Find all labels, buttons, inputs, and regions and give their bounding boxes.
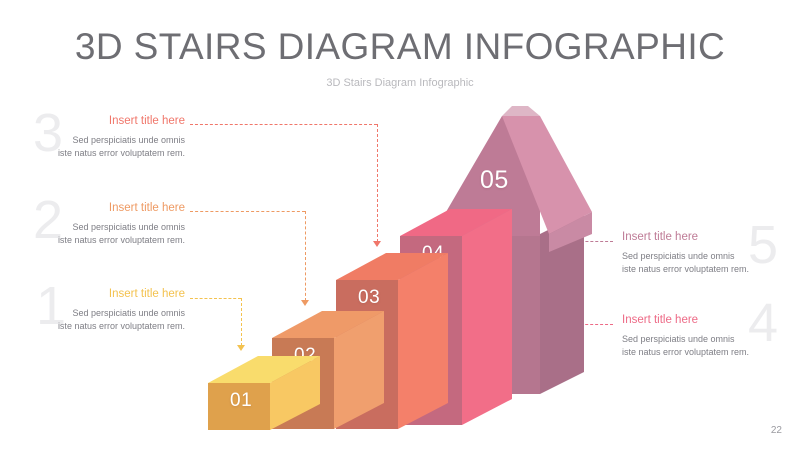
- step-1-bar-3d[interactable]: 01: [208, 356, 320, 434]
- slide: 3D STAIRS DIAGRAM INFOGRAPHIC 3D Stairs …: [0, 0, 800, 450]
- page-number: 22: [771, 425, 782, 436]
- text-block-step-1[interactable]: Insert title here Sed perspiciatis unde …: [0, 288, 185, 333]
- step-3-number: 03: [358, 287, 380, 309]
- step-1-title: Insert title here: [0, 288, 185, 300]
- text-block-step-5[interactable]: Insert title here Sed perspiciatis unde …: [622, 231, 800, 276]
- connector-2-vertical: [305, 211, 306, 301]
- connector-3-horizontal: [190, 124, 377, 125]
- step-2-body: Sed perspiciatis unde omnis iste natus e…: [0, 221, 185, 247]
- text-block-step-3[interactable]: Insert title here Sed perspiciatis unde …: [0, 115, 185, 160]
- text-block-step-4[interactable]: Insert title here Sed perspiciatis unde …: [622, 314, 800, 359]
- step-3-title: Insert title here: [0, 115, 185, 127]
- connector-1-arrow-icon: [237, 345, 245, 351]
- step-4-title: Insert title here: [622, 314, 800, 326]
- connector-2-arrow-icon: [301, 300, 309, 306]
- step-5-number: 05: [480, 166, 509, 195]
- step-1-body: Sed perspiciatis unde omnis iste natus e…: [0, 307, 185, 333]
- page-subtitle: 3D Stairs Diagram Infographic: [0, 77, 800, 89]
- step-5-body: Sed perspiciatis unde omnis iste natus e…: [622, 250, 800, 276]
- step-4-body: Sed perspiciatis unde omnis iste natus e…: [622, 333, 800, 359]
- step-1-number: 01: [230, 390, 252, 412]
- step-2-title: Insert title here: [0, 202, 185, 214]
- connector-2-horizontal: [190, 211, 305, 212]
- text-block-step-2[interactable]: Insert title here Sed perspiciatis unde …: [0, 202, 185, 247]
- connector-3-vertical: [377, 124, 378, 242]
- connector-1-vertical: [241, 298, 242, 346]
- connector-1-horizontal: [190, 298, 241, 299]
- step-3-body: Sed perspiciatis unde omnis iste natus e…: [0, 134, 185, 160]
- step-5-title: Insert title here: [622, 231, 800, 243]
- connector-3-arrow-icon: [373, 241, 381, 247]
- page-title: 3D STAIRS DIAGRAM INFOGRAPHIC: [0, 26, 800, 68]
